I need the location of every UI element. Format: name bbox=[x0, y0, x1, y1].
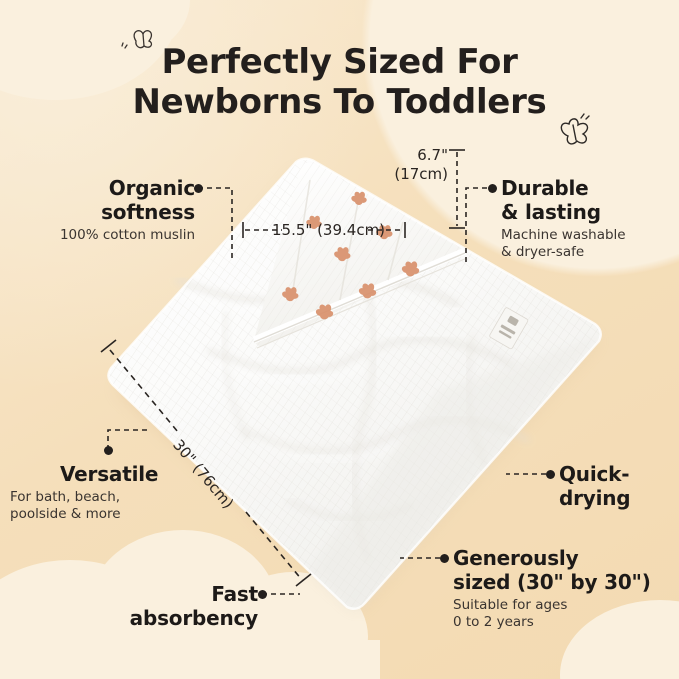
callout-dot-organic-softness bbox=[194, 184, 203, 193]
callout-dot-fast-absorbency bbox=[258, 590, 267, 599]
callout-sub-line2: 0 to 2 years bbox=[453, 614, 677, 631]
callout-heading-line2: drying bbox=[559, 486, 677, 510]
callout-versatile: Versatile For bath, beach, poolside & mo… bbox=[10, 462, 180, 523]
callout-dot-durable-lasting bbox=[488, 184, 497, 193]
callout-heading: Organic bbox=[10, 176, 195, 200]
callout-heading-line2: softness bbox=[10, 200, 195, 224]
callout-fast-absorbency: Fast absorbency bbox=[60, 582, 258, 630]
callout-dot-quick-drying bbox=[546, 470, 555, 479]
callout-organic-softness: Organic softness 100% cotton muslin bbox=[10, 176, 195, 244]
callout-heading: Quick- bbox=[559, 462, 677, 486]
callout-sub-line2: poolside & more bbox=[10, 506, 180, 523]
callout-durable-lasting: Durable & lasting Machine washable & dry… bbox=[501, 176, 673, 261]
callout-dot-generously-sized bbox=[440, 554, 449, 563]
callout-sub: 100% cotton muslin bbox=[10, 227, 195, 244]
callout-sub-line2: & dryer-safe bbox=[501, 244, 673, 261]
callout-heading: Generously bbox=[453, 546, 677, 570]
callout-sub: For bath, beach, bbox=[10, 489, 180, 506]
callout-heading: Versatile bbox=[10, 462, 180, 486]
callout-heading: Fast bbox=[60, 582, 258, 606]
callout-heading-line2: & lasting bbox=[501, 200, 673, 224]
callout-quick-drying: Quick- drying bbox=[559, 462, 677, 510]
callout-heading: Durable bbox=[501, 176, 673, 200]
callout-heading-line2: absorbency bbox=[60, 606, 258, 630]
callout-sub: Suitable for ages bbox=[453, 597, 677, 614]
callout-generously-sized: Generously sized (30" by 30") Suitable f… bbox=[453, 546, 677, 631]
infographic-canvas: Perfectly Sized For Newborns To Toddlers bbox=[0, 0, 679, 679]
callout-heading-line2: sized (30" by 30") bbox=[453, 570, 677, 594]
callout-sub: Machine washable bbox=[501, 227, 673, 244]
callout-dot-versatile bbox=[104, 446, 113, 455]
